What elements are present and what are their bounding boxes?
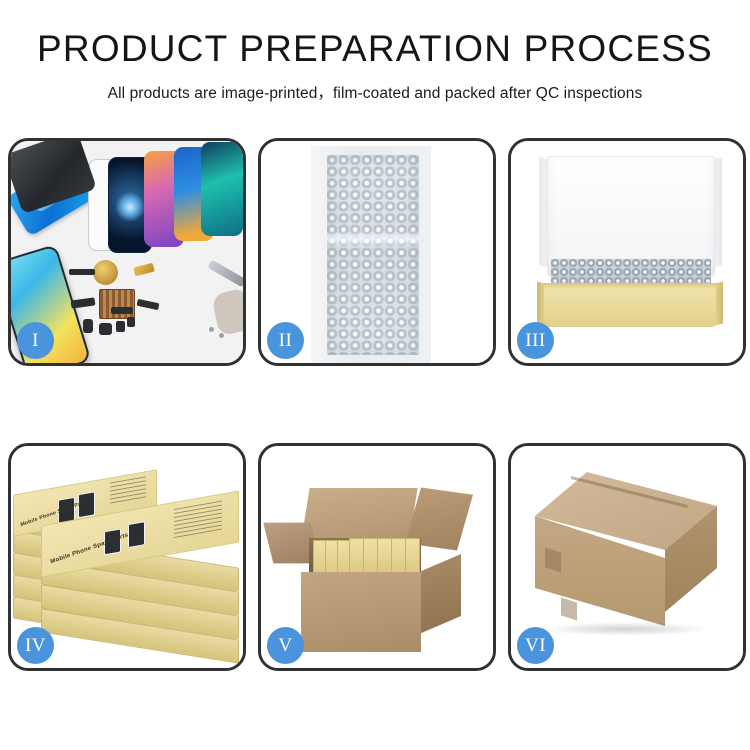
camera-module [83, 319, 93, 333]
carton-front-panel [301, 572, 421, 652]
header: PRODUCT PREPARATION PROCESS All products… [0, 0, 750, 103]
panel-products: I [8, 138, 246, 366]
step-badge-4: IV [17, 627, 54, 664]
carton-shadow [541, 622, 711, 636]
white-box-lid [547, 156, 715, 276]
box-phone-image-front-2 [128, 521, 145, 548]
panel-sealed-carton: VI [508, 443, 746, 671]
small-ic-1 [116, 321, 125, 332]
step-badge-2: II [267, 322, 304, 359]
box-text-block-front [174, 501, 222, 539]
flex-cable-2 [71, 297, 96, 308]
carton-side-panel [419, 554, 461, 634]
panel-bubble-wrap: II [258, 138, 496, 366]
bubble-wrap-texture [327, 155, 419, 355]
speaker-module [99, 323, 112, 335]
screw-1 [209, 327, 214, 332]
gold-component [93, 260, 118, 285]
page-subtitle: All products are image-printed，film-coat… [0, 81, 750, 103]
phone-notch [122, 158, 139, 163]
small-ic-2 [127, 317, 135, 327]
process-step-grid: I II III [8, 138, 742, 671]
tweezers-icon [207, 260, 243, 288]
copper-grid-component [99, 289, 135, 319]
product-preparation-infographic: PRODUCT PREPARATION PROCESS All products… [0, 0, 750, 750]
hand [211, 288, 243, 336]
page-title: PRODUCT PREPARATION PROCESS [0, 30, 750, 69]
bubble-wrap-sheen [327, 231, 419, 247]
panel-open-carton: V [258, 443, 496, 671]
yellow-box-base [544, 287, 716, 327]
carton-tape-patch-bottom [561, 597, 577, 620]
screen-burst-graphic [115, 192, 145, 222]
box-text-block-back [110, 476, 146, 506]
teal-wave-phone [201, 142, 243, 236]
step-badge-1: I [17, 322, 54, 359]
panel-stacked-boxes: Mobile Phone Spare Parts Mobile Phone Sp… [8, 443, 246, 671]
flex-cable-3 [137, 299, 160, 310]
screw-2 [219, 333, 224, 338]
connector-strip [111, 307, 133, 314]
step-badge-6: VI [517, 627, 554, 664]
step-badge-5: V [267, 627, 304, 664]
flex-cable-1 [69, 269, 95, 275]
panel-inner-box: III [508, 138, 746, 366]
step-badge-3: III [517, 322, 554, 359]
gold-flex-cable [133, 263, 155, 277]
